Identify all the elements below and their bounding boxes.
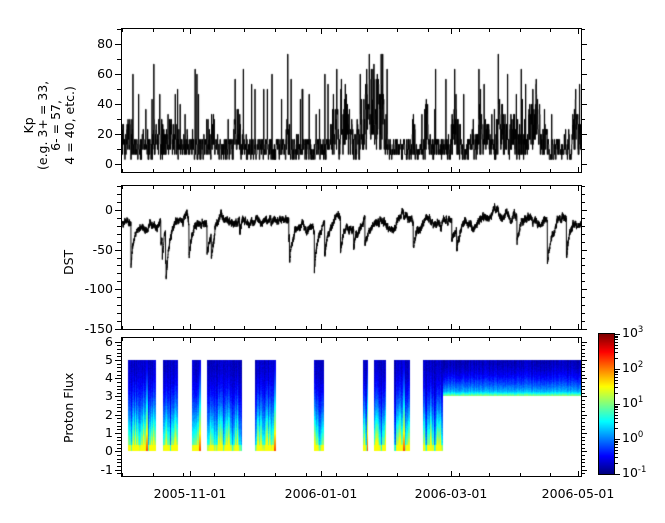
tick-mark	[489, 28, 490, 32]
tick-mark	[214, 326, 215, 330]
tick-mark	[550, 185, 551, 189]
tick-mark	[581, 356, 585, 357]
tick-mark	[117, 297, 121, 298]
tick-mark	[214, 185, 215, 189]
tick-mark	[581, 407, 585, 408]
tick-mark	[581, 164, 587, 165]
tick-mark	[581, 289, 587, 290]
tick-mark	[614, 404, 620, 405]
tick-mark	[117, 349, 121, 350]
tick-mark	[336, 337, 337, 341]
tick-mark	[451, 167, 452, 173]
tick-mark	[581, 210, 587, 211]
tick-mark	[117, 89, 121, 90]
tick-mark	[117, 202, 121, 203]
colorbar-tick-label: 10-1	[622, 465, 646, 480]
tick-mark	[581, 134, 587, 135]
tick-mark	[397, 185, 398, 189]
tick-mark	[451, 324, 452, 330]
tick-mark	[428, 473, 429, 477]
tick-mark	[581, 437, 585, 438]
tick-mark	[581, 250, 587, 251]
tick-mark	[122, 169, 123, 173]
tick-mark	[117, 393, 121, 394]
tick-mark	[336, 326, 337, 330]
tick-mark	[117, 281, 121, 282]
tick-mark	[117, 258, 121, 259]
tick-mark	[520, 473, 521, 477]
tick-mark	[214, 28, 215, 32]
tick-mark	[115, 415, 121, 416]
tick-mark	[614, 374, 618, 375]
tick-mark	[321, 28, 322, 34]
tick-mark	[117, 386, 121, 387]
tick-mark	[459, 326, 460, 330]
tick-mark	[321, 324, 322, 330]
tick-mark	[581, 418, 585, 419]
tick-mark	[153, 169, 154, 173]
tick-mark	[614, 474, 620, 475]
tick-mark	[117, 149, 121, 150]
tick-mark	[117, 59, 121, 60]
tick-mark	[581, 169, 582, 173]
tick-mark	[581, 326, 582, 330]
tick-label: 40	[97, 96, 113, 111]
tick-mark	[336, 473, 337, 477]
tick-mark	[581, 74, 587, 75]
tick-mark	[336, 28, 337, 32]
tick-mark	[367, 169, 368, 173]
tick-mark	[244, 326, 245, 330]
tick-mark	[614, 450, 618, 451]
tick-mark	[581, 313, 585, 314]
tick-mark	[428, 326, 429, 330]
tick-mark	[117, 305, 121, 306]
tick-mark	[117, 313, 121, 314]
tick-mark	[117, 422, 121, 423]
tick-mark	[614, 337, 618, 338]
tick-mark	[117, 455, 121, 456]
tick-mark	[117, 426, 121, 427]
tick-mark	[581, 185, 582, 189]
tick-mark	[117, 462, 121, 463]
tick-mark	[115, 104, 121, 105]
tick-mark	[306, 337, 307, 341]
colorbar-tick-label: 103	[622, 325, 643, 340]
tick-mark	[321, 471, 322, 477]
colorbar-label-base: 10	[622, 325, 638, 340]
tick-mark	[581, 202, 585, 203]
tick-mark	[117, 404, 121, 405]
tick-label: 0	[105, 156, 113, 171]
tick-mark	[614, 372, 618, 373]
tick-mark	[581, 378, 587, 379]
tick-mark	[306, 185, 307, 189]
tick-mark	[122, 28, 123, 32]
tick-mark	[190, 471, 191, 477]
tick-label: 6	[105, 334, 113, 349]
tick-mark	[614, 415, 618, 416]
tick-mark	[183, 473, 184, 477]
tick-mark	[581, 404, 585, 405]
tick-mark	[115, 360, 121, 361]
tick-mark	[520, 326, 521, 330]
tick-mark	[581, 433, 587, 434]
tick-mark	[117, 440, 121, 441]
tick-mark	[122, 337, 123, 341]
tick-mark	[117, 194, 121, 195]
kp-axis-label-line3: 6- = 57,	[49, 81, 63, 170]
tick-mark	[428, 337, 429, 341]
tick-mark	[520, 28, 521, 32]
tick-mark	[614, 387, 618, 388]
tick-mark	[614, 418, 618, 419]
tick-mark	[115, 342, 121, 343]
tick-mark	[614, 422, 618, 423]
tick-mark	[117, 448, 121, 449]
tick-mark	[117, 375, 121, 376]
tick-mark	[614, 348, 618, 349]
tick-mark	[581, 321, 585, 322]
tick-mark	[451, 185, 452, 191]
tick-mark	[115, 470, 121, 471]
tick-mark	[581, 258, 585, 259]
proton-flux-spectrogram-canvas	[122, 338, 581, 476]
tick-mark	[275, 169, 276, 173]
tick-mark	[397, 337, 398, 341]
tick-mark	[183, 326, 184, 330]
tick-mark	[581, 389, 585, 390]
tick-mark	[614, 406, 618, 407]
tick-mark	[459, 28, 460, 32]
tick-mark	[117, 234, 121, 235]
tick-mark	[550, 28, 551, 32]
tick-label: 0	[105, 443, 113, 458]
tick-mark	[115, 396, 121, 397]
tick-mark	[117, 119, 121, 120]
dst-trace-canvas	[122, 186, 581, 329]
tick-mark	[214, 337, 215, 341]
tick-mark	[581, 440, 585, 441]
tick-mark	[153, 337, 154, 341]
tick-mark	[614, 345, 618, 346]
tick-mark	[614, 439, 620, 440]
tick-mark	[581, 273, 585, 274]
colorbar-label-exponent: 1	[638, 395, 643, 405]
tick-mark	[581, 411, 585, 412]
tick-mark	[275, 28, 276, 32]
tick-mark	[581, 149, 585, 150]
tick-mark	[183, 337, 184, 341]
tick-label: 0	[105, 202, 113, 217]
tick-mark	[581, 470, 587, 471]
tick-mark	[397, 169, 398, 173]
tick-mark	[581, 426, 585, 427]
tick-mark	[306, 28, 307, 32]
tick-mark	[397, 28, 398, 32]
tick-mark	[459, 185, 460, 189]
tick-mark	[581, 297, 585, 298]
tick-mark	[153, 28, 154, 32]
tick-mark	[367, 326, 368, 330]
tick-mark	[117, 242, 121, 243]
tick-mark	[578, 471, 579, 477]
tick-mark	[581, 459, 585, 460]
tick-mark	[117, 356, 121, 357]
colorbar-tick-label: 101	[622, 395, 643, 410]
tick-mark	[153, 326, 154, 330]
tick-mark	[614, 412, 618, 413]
tick-mark	[117, 218, 121, 219]
tick-mark	[459, 337, 460, 341]
kp-axis-label: Kp (e.g. 3+ = 33, 6- = 57, 4 = 40, etc.)	[22, 81, 76, 170]
colorbar-label-base: 10	[622, 465, 638, 480]
tick-label: 60	[97, 66, 113, 81]
tick-mark	[183, 169, 184, 173]
tick-mark	[117, 321, 121, 322]
colorbar-label-exponent: 2	[638, 360, 643, 370]
tick-mark	[581, 367, 585, 368]
tick-mark	[115, 451, 121, 452]
tick-mark	[321, 185, 322, 191]
tick-mark	[451, 28, 452, 34]
tick-mark	[581, 265, 585, 266]
tick-mark	[122, 185, 123, 189]
tick-mark	[581, 226, 585, 227]
tick-mark	[581, 375, 585, 376]
tick-mark	[275, 185, 276, 189]
tick-mark	[117, 429, 121, 430]
kp-trace-canvas	[122, 29, 581, 172]
colorbar-tick-label: 102	[622, 360, 643, 375]
tick-mark	[581, 429, 585, 430]
tick-mark	[117, 186, 121, 187]
tick-mark	[581, 371, 585, 372]
tick-mark	[614, 342, 618, 343]
tick-mark	[117, 407, 121, 408]
colorbar-label-base: 10	[622, 430, 638, 445]
tick-mark	[581, 345, 585, 346]
tick-mark	[122, 326, 123, 330]
tick-mark	[117, 437, 121, 438]
tick-mark	[275, 473, 276, 477]
dst-axis-label: DST	[61, 250, 76, 275]
tick-mark	[428, 28, 429, 32]
x-tick-label: 2006-05-01	[530, 486, 626, 501]
tick-mark	[581, 400, 585, 401]
tick-mark	[578, 167, 579, 173]
tick-label: 5	[105, 352, 113, 367]
tick-mark	[578, 185, 579, 191]
tick-mark	[581, 386, 585, 387]
tick-label: 80	[97, 36, 113, 51]
tick-mark	[581, 415, 587, 416]
tick-mark	[581, 119, 585, 120]
tick-mark	[581, 451, 587, 452]
tick-mark	[214, 473, 215, 477]
x-tick-label: 2006-03-01	[403, 486, 499, 501]
tick-mark	[275, 326, 276, 330]
tick-mark	[190, 324, 191, 330]
tick-mark	[614, 334, 620, 335]
tick-label: -100	[85, 281, 113, 296]
tick-mark	[306, 326, 307, 330]
tick-mark	[117, 265, 121, 266]
figure-root: 020406080 Kp (e.g. 3+ = 33, 6- = 57, 4 =…	[0, 0, 665, 523]
tick-mark	[520, 337, 521, 341]
tick-label: 1	[105, 425, 113, 440]
tick-mark	[489, 473, 490, 477]
tick-mark	[117, 389, 121, 390]
tick-mark	[520, 169, 521, 173]
tick-mark	[581, 422, 585, 423]
tick-mark	[190, 185, 191, 191]
tick-mark	[489, 326, 490, 330]
tick-mark	[489, 337, 490, 341]
tick-mark	[614, 352, 618, 353]
tick-mark	[581, 59, 585, 60]
tick-mark	[581, 194, 585, 195]
tick-mark	[244, 169, 245, 173]
tick-mark	[117, 371, 121, 372]
tick-label: 20	[97, 126, 113, 141]
tick-mark	[459, 473, 460, 477]
tick-mark	[190, 167, 191, 173]
tick-mark	[117, 226, 121, 227]
tick-mark	[306, 169, 307, 173]
tick-mark	[244, 185, 245, 189]
tick-mark	[117, 411, 121, 412]
tick-mark	[581, 234, 585, 235]
tick-mark	[117, 382, 121, 383]
tick-mark	[244, 337, 245, 341]
tick-mark	[578, 324, 579, 330]
kp-axis-label-line2: (e.g. 3+ = 33,	[36, 81, 50, 170]
tick-mark	[489, 185, 490, 189]
colorbar-gradient	[599, 334, 614, 474]
tick-mark	[581, 455, 585, 456]
tick-mark	[122, 473, 123, 477]
tick-mark	[115, 433, 121, 434]
tick-mark	[581, 466, 585, 467]
tick-label: 3	[105, 388, 113, 403]
tick-mark	[117, 367, 121, 368]
tick-mark	[614, 463, 618, 464]
tick-mark	[581, 444, 585, 445]
tick-label: -50	[93, 242, 113, 257]
tick-mark	[614, 383, 618, 384]
tick-mark	[190, 337, 191, 343]
tick-mark	[581, 353, 585, 354]
tick-mark	[489, 169, 490, 173]
tick-mark	[614, 371, 618, 372]
tick-mark	[115, 329, 121, 330]
tick-mark	[614, 442, 618, 443]
tick-mark	[367, 28, 368, 32]
tick-mark	[550, 169, 551, 173]
colorbar-label-exponent: -1	[638, 465, 646, 475]
tick-mark	[183, 185, 184, 189]
tick-mark	[321, 337, 322, 343]
tick-mark	[614, 428, 618, 429]
tick-mark	[428, 169, 429, 173]
tick-mark	[336, 169, 337, 173]
tick-mark	[614, 358, 618, 359]
tick-mark	[614, 377, 618, 378]
tick-mark	[614, 369, 620, 370]
tick-mark	[550, 326, 551, 330]
tick-mark	[451, 337, 452, 343]
tick-mark	[581, 393, 585, 394]
colorbar-label-base: 10	[622, 395, 638, 410]
tick-mark	[153, 185, 154, 189]
tick-mark	[117, 418, 121, 419]
tick-mark	[581, 364, 585, 365]
tick-mark	[614, 393, 618, 394]
tick-mark	[614, 444, 618, 445]
tick-mark	[578, 337, 579, 343]
tick-mark	[614, 453, 618, 454]
kp-axis-label-line4: 4 = 40, etc.)	[63, 81, 77, 170]
tick-mark	[581, 281, 585, 282]
tick-mark	[614, 380, 618, 381]
tick-mark	[336, 185, 337, 189]
tick-mark	[451, 471, 452, 477]
tick-mark	[550, 337, 551, 341]
tick-mark	[115, 164, 121, 165]
tick-mark	[428, 185, 429, 189]
x-tick-label: 2006-01-01	[273, 486, 369, 501]
tick-mark	[581, 382, 585, 383]
tick-mark	[397, 326, 398, 330]
tick-mark	[115, 134, 121, 135]
x-tick-label: 2005-11-01	[142, 486, 238, 501]
tick-mark	[367, 473, 368, 477]
tick-mark	[581, 349, 585, 350]
tick-mark	[581, 218, 585, 219]
tick-label: -1	[101, 462, 113, 477]
tick-mark	[578, 28, 579, 34]
tick-mark	[581, 462, 585, 463]
tick-mark	[581, 473, 582, 477]
tick-label: 2	[105, 407, 113, 422]
tick-mark	[581, 242, 585, 243]
tick-mark	[275, 337, 276, 341]
tick-mark	[367, 337, 368, 341]
tick-mark	[244, 28, 245, 32]
tick-mark	[115, 44, 121, 45]
colorbar-label-exponent: 0	[638, 430, 643, 440]
tick-mark	[115, 378, 121, 379]
tick-mark	[581, 104, 587, 105]
tick-mark	[614, 336, 618, 337]
tick-mark	[117, 353, 121, 354]
colorbar-label-base: 10	[622, 360, 638, 375]
tick-mark	[115, 210, 121, 211]
tick-mark	[581, 360, 587, 361]
kp-axis-label-line1: Kp	[22, 81, 36, 170]
tick-mark	[117, 273, 121, 274]
tick-mark	[614, 339, 618, 340]
tick-mark	[581, 396, 587, 397]
tick-mark	[117, 345, 121, 346]
tick-mark	[153, 473, 154, 477]
tick-mark	[581, 28, 582, 32]
tick-mark	[550, 473, 551, 477]
tick-mark	[117, 459, 121, 460]
tick-mark	[614, 407, 618, 408]
proton-flux-axis-label: Proton Flux	[61, 373, 76, 443]
